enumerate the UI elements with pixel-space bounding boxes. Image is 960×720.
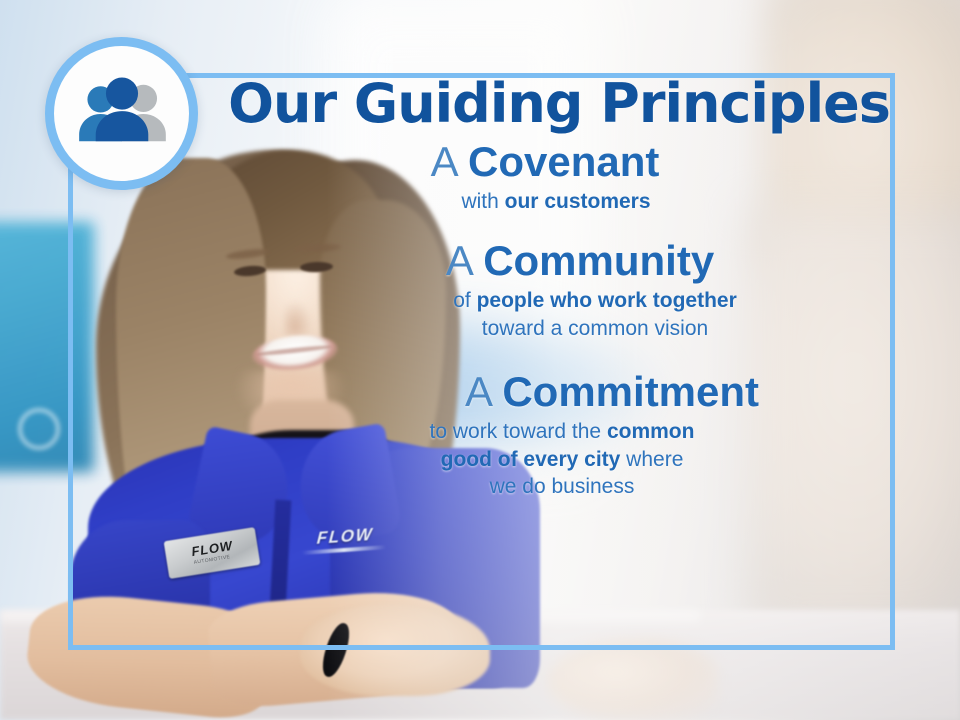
principle-heading-community: A Community bbox=[260, 238, 900, 283]
principle-covenant: A Covenant with our customers bbox=[190, 139, 900, 216]
principle-word-commitment: Commitment bbox=[502, 368, 759, 415]
dealership-banner-logo bbox=[18, 408, 60, 450]
principle-article-commitment: A bbox=[465, 368, 491, 415]
principle-commitment: A Commitment to work toward the commongo… bbox=[324, 369, 900, 502]
content-block: Our Guiding Principles A Covenant with o… bbox=[200, 76, 900, 636]
principle-heading-commitment: A Commitment bbox=[324, 369, 900, 414]
page-title: Our Guiding Principles bbox=[218, 76, 900, 133]
poster-canvas: FLOW FLOW AUTOMOTIVE bbox=[0, 0, 960, 720]
principle-article-covenant: A bbox=[431, 138, 457, 185]
principle-community: A Community of people who work togethert… bbox=[260, 238, 900, 343]
principle-article-community: A bbox=[446, 237, 472, 284]
principle-subtext-covenant: with our customers bbox=[212, 188, 900, 216]
people-group-icon-badge bbox=[45, 37, 198, 190]
principle-word-community: Community bbox=[483, 237, 714, 284]
principle-word-covenant: Covenant bbox=[468, 138, 659, 185]
customer-hand bbox=[548, 640, 718, 720]
people-group-icon bbox=[73, 77, 171, 151]
principle-heading-covenant: A Covenant bbox=[190, 139, 900, 184]
principle-subtext-community: of people who work togethertoward a comm… bbox=[290, 287, 900, 342]
principle-subtext-commitment: to work toward the commongood of every c… bbox=[352, 418, 772, 501]
